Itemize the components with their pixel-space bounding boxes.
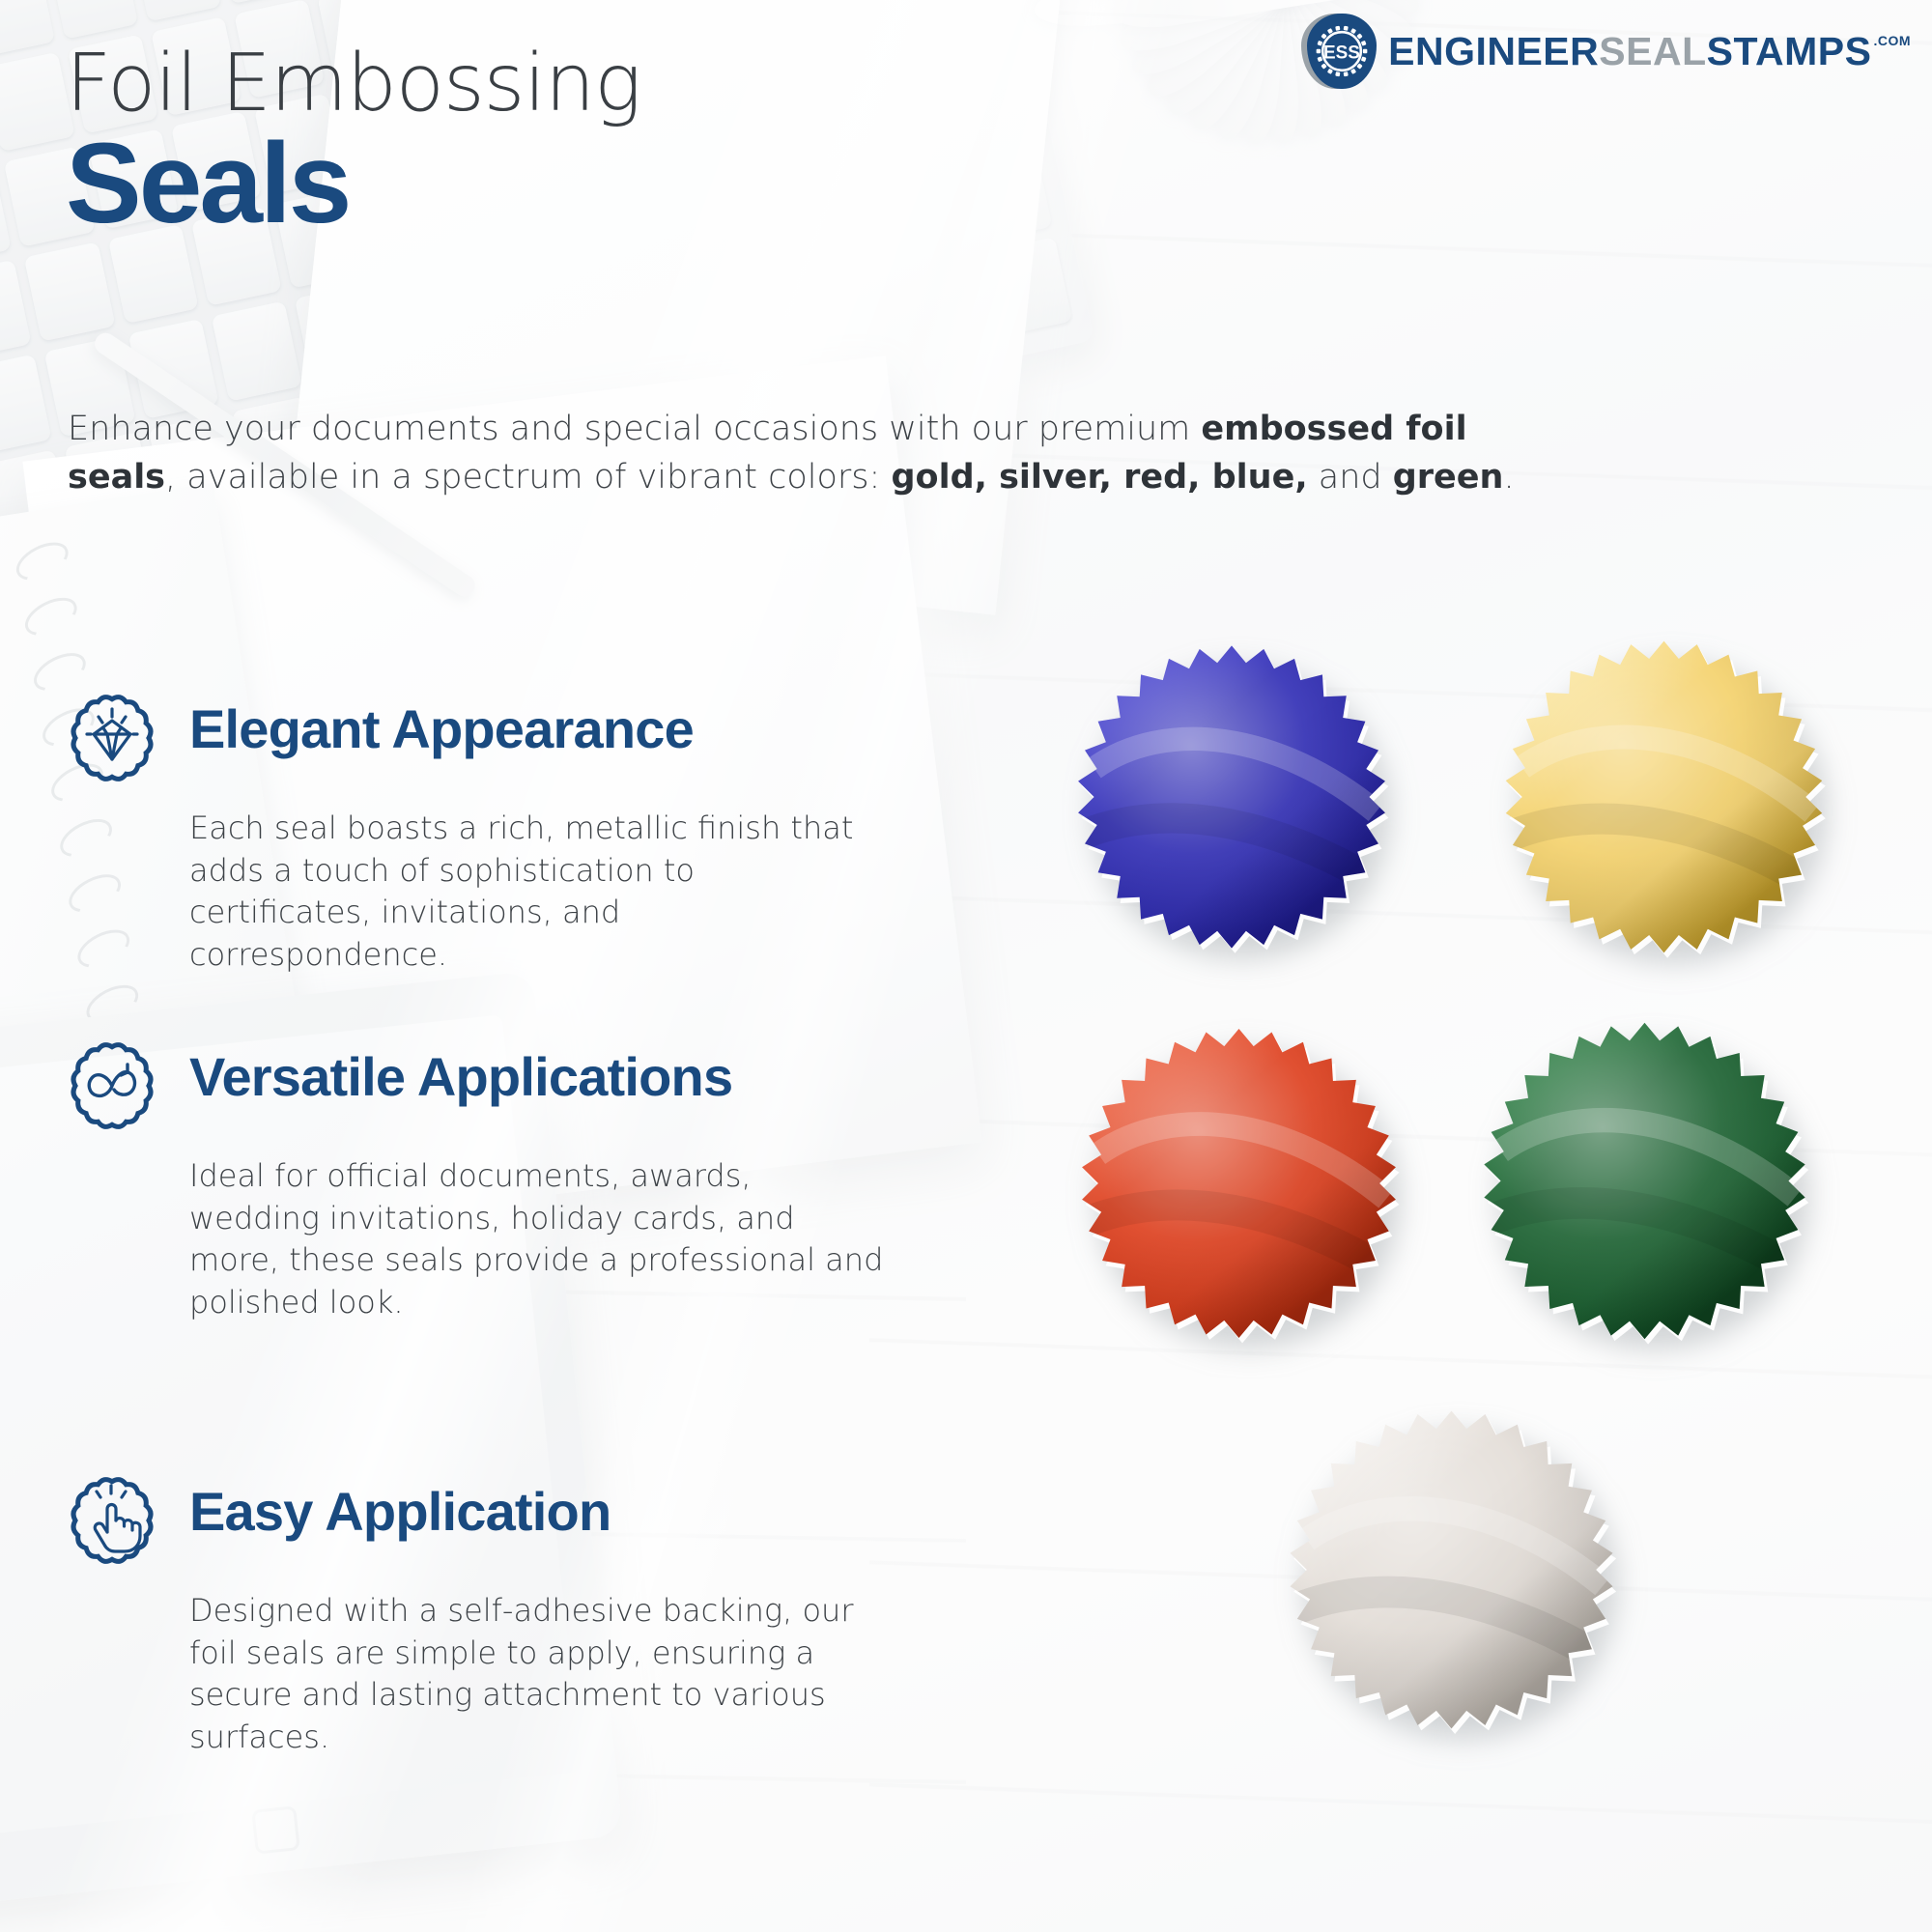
subtitle-bold-colors: gold, silver, red, blue, (891, 458, 1307, 497)
headline-line-2: Seals (66, 127, 640, 241)
logo-word-tld: .COM (1873, 34, 1911, 47)
feature-versatile-applications: Versatile Applications Ideal for officia… (60, 1036, 910, 1323)
gold-seal-graphic (1483, 633, 1845, 961)
logo-word-stamps: STAMPS (1707, 32, 1872, 71)
feature-body: Ideal for official documents, awards, we… (189, 1155, 885, 1323)
feature-body: Each seal boasts a rich, metallic finish… (189, 808, 885, 976)
feature-title: Easy Application (189, 1484, 611, 1541)
logo-word-engineer: ENGINEER (1388, 32, 1599, 71)
red-seal-graphic (1067, 1019, 1410, 1348)
infographic-canvas: ESS ENGINEER SEAL STAMPS .COM Foil Embos… (0, 0, 1932, 1932)
subtitle-part-1: Enhance your documents and special occas… (68, 410, 1201, 448)
brand-wordmark: ENGINEER SEAL STAMPS .COM (1388, 32, 1911, 71)
subtitle-paragraph: Enhance your documents and special occas… (68, 406, 1517, 501)
seal-red (1067, 1019, 1410, 1348)
seal-blue (1058, 638, 1406, 956)
headline-line-1: Foil Embossing (66, 46, 640, 123)
subtitle-part-3: and (1308, 458, 1393, 497)
infinity-icon (60, 1030, 164, 1142)
logo-word-seal: SEAL (1599, 32, 1706, 71)
svg-text:ESS: ESS (1323, 43, 1360, 64)
ess-shield-icon: ESS (1307, 14, 1377, 89)
feature-title: Elegant Appearance (189, 701, 694, 758)
green-seal-graphic (1468, 1014, 1821, 1348)
brand-logo[interactable]: ESS ENGINEER SEAL STAMPS .COM (1307, 14, 1911, 89)
blue-seal-graphic (1058, 638, 1406, 956)
subtitle-part-4: . (1503, 458, 1514, 497)
page-title: Foil Embossing Seals (66, 46, 640, 241)
seal-green (1468, 1014, 1821, 1348)
feature-title: Versatile Applications (189, 1049, 732, 1106)
subtitle-part-2: , available in a spectrum of vibrant col… (165, 458, 891, 497)
tap-hand-icon (60, 1464, 164, 1577)
seal-gold (1483, 633, 1845, 961)
seal-silver (1275, 1401, 1628, 1739)
feature-body: Designed with a self-adhesive backing, o… (189, 1590, 885, 1758)
feature-elegant-appearance: Elegant Appearance Each seal boasts a ri… (60, 688, 910, 976)
silver-seal-graphic (1275, 1401, 1628, 1739)
diamond-icon (60, 682, 164, 794)
feature-easy-application: Easy Application Designed with a self-ad… (60, 1470, 910, 1758)
subtitle-bold-green: green (1393, 458, 1504, 497)
